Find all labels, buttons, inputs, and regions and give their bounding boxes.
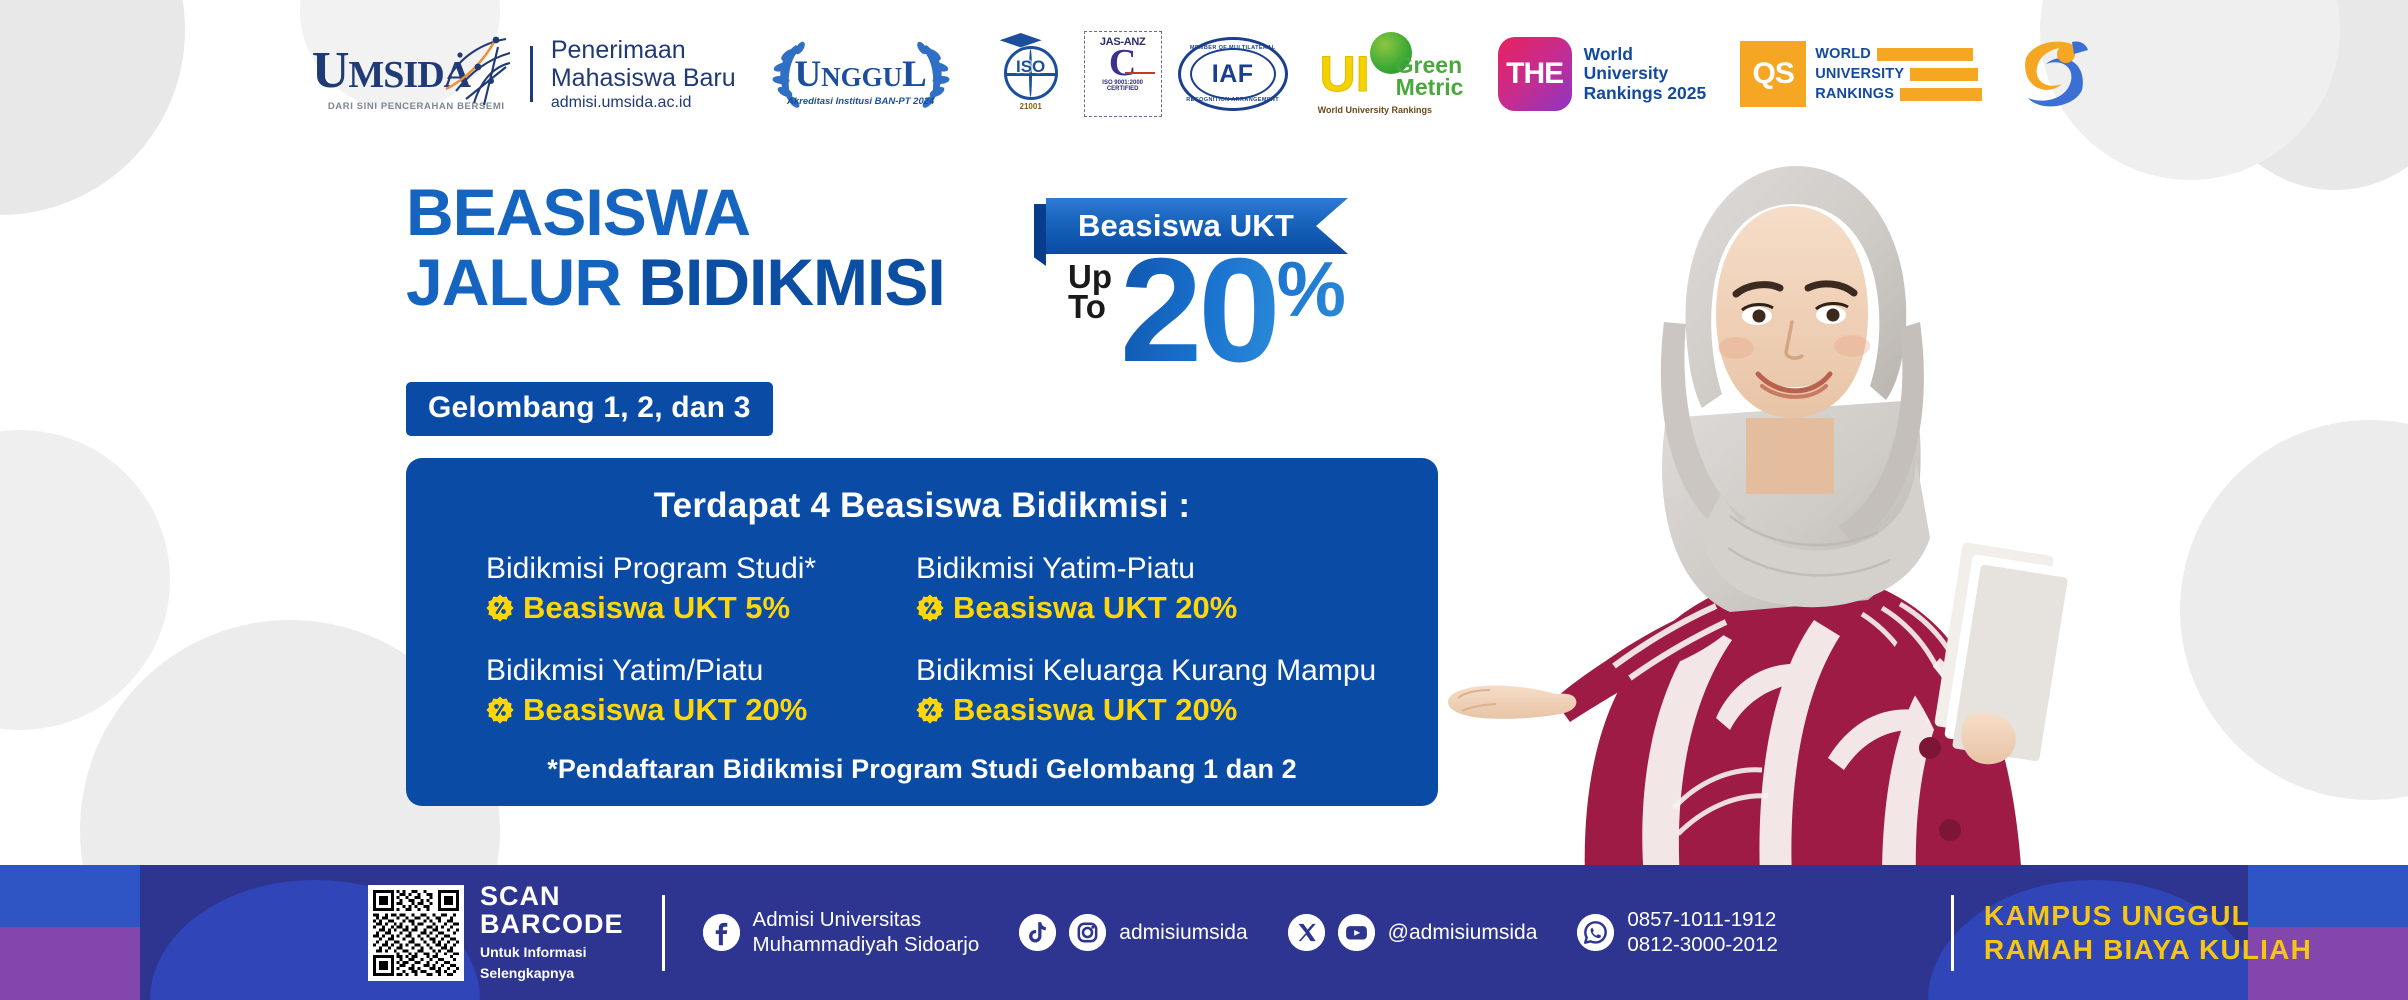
umsida-logo: UMSIDA DARI SINI PENCERAHAN BERSEMI — [312, 24, 736, 124]
qs-line-1: WORLD — [1815, 46, 1871, 62]
whatsapp-glyph — [1577, 914, 1614, 951]
footer-content: SCAN BARCODE Untuk Informasi Selengkapny… — [0, 865, 2408, 1000]
the-badge-text: THE — [1506, 57, 1563, 91]
iso-certification-logo: ISO 21001 — [992, 31, 1070, 117]
iaf-logo: MEMBER OF MULTILATERAL IAF RECOGNITION A… — [1178, 37, 1288, 111]
qs-row-1: WORLD — [1815, 46, 1982, 62]
footer-bar: SCAN BARCODE Untuk Informasi Selengkapny… — [0, 865, 2408, 1000]
info-card-footnote: *Pendaftaran Bidikmisi Program Studi Gel… — [436, 754, 1408, 785]
scholarship-amount: Beasiswa UKT 5% — [523, 590, 790, 626]
iaf-bottom-text: RECOGNITION ARRANGEMENT — [1181, 97, 1285, 103]
youtube-glyph — [1338, 914, 1375, 951]
ui-greenmetric-logo: UI Green Metric World University Ranking… — [1318, 32, 1464, 116]
percent-badge-icon — [916, 594, 944, 622]
qs-bar-3 — [1900, 88, 1982, 101]
tiktok-instagram-handle: admisiumsida — [1119, 920, 1247, 945]
background-circle-decoration — [2180, 420, 2408, 800]
scan-sub-2: Selengkapnya — [480, 965, 624, 982]
tagline-divider — [1951, 895, 1954, 971]
iaf-top-text: MEMBER OF MULTILATERAL — [1181, 45, 1285, 51]
page-title: BEASISWA JALUR BIDIKMISI — [406, 178, 945, 318]
facebook-label: Admisi Universitas Muhammadiyah Sidoarjo — [753, 908, 980, 957]
facebook-glyph — [703, 914, 740, 951]
scholarship-amount: Beasiswa UKT 20% — [953, 692, 1237, 728]
facebook-line-1: Admisi Universitas — [753, 908, 980, 933]
iso-number: 21001 — [1020, 102, 1042, 111]
headline-line-1: BEASISWA — [406, 178, 945, 248]
scan-line-1: SCAN — [480, 883, 624, 911]
list-item: Bidikmisi Yatim/Piatu Beasiswa UKT 20% — [486, 654, 916, 728]
scholarship-amount-row: Beasiswa UKT 20% — [916, 590, 1408, 626]
x-glyph — [1288, 914, 1325, 951]
scholarship-name: Bidikmisi Keluarga Kurang Mampu — [916, 654, 1408, 689]
admission-website: admisi.umsida.ac.id — [551, 94, 736, 112]
scan-sub-1: Untuk Informasi — [480, 944, 624, 961]
unggul-subtitle: Akreditasi Institusi BAN-PT 2024 — [766, 96, 956, 107]
up-to-label: Up To — [1068, 262, 1112, 323]
instagram-glyph — [1069, 914, 1106, 951]
iaf-inner-ring: IAF — [1190, 48, 1276, 100]
scholarship-name: Bidikmisi Yatim-Piatu — [916, 552, 1408, 587]
the-rankings-logo: THE World University Rankings 2025 — [1498, 24, 1707, 124]
youtube-icon[interactable] — [1338, 914, 1375, 951]
list-item: Bidikmisi Yatim-Piatu Beasiswa UKT 20% — [916, 552, 1408, 626]
jas-anz-letter: C — [1109, 47, 1136, 80]
jas-anz-logo: JAS-ANZ C ISO 9001:2000 CERTIFIED — [1084, 31, 1162, 117]
qs-line-2: UNIVERSITY — [1815, 66, 1904, 82]
tagline-line-1: KAMPUS UNGGUL — [1984, 899, 2312, 932]
whatsapp-number-2: 0812-3000-2012 — [1627, 933, 1777, 958]
swirl-person-icon — [2012, 32, 2096, 116]
percent-badge-icon — [486, 696, 514, 724]
campus-tagline: KAMPUS UNGGUL RAMAH BIAYA KULIAH — [1951, 895, 2408, 971]
percent-symbol: % — [1277, 254, 1346, 324]
jas-anz-certified: CERTIFIED — [1107, 86, 1139, 92]
scholarship-amount-row: Beasiswa UKT 5% — [486, 590, 916, 626]
x-twitter-icon[interactable] — [1288, 914, 1325, 951]
info-card-title: Terdapat 4 Beasiswa Bidikmisi : — [436, 486, 1408, 526]
student-photo — [1430, 118, 2070, 880]
whatsapp-icon[interactable] — [1577, 914, 1614, 951]
scholarship-list: Bidikmisi Program Studi* Beasiswa UKT 5%… — [436, 552, 1408, 728]
ui-greenmetric-ui: UI — [1320, 52, 1370, 97]
percent-badge-icon — [916, 696, 944, 724]
ribbon-fold-tail — [1034, 204, 1046, 266]
scan-line-2: BARCODE — [480, 911, 624, 939]
qs-badge-text: QS — [1753, 57, 1794, 91]
percent-value: 20 — [1120, 250, 1277, 371]
wave-badge: Gelombang 1, 2, dan 3 — [406, 382, 773, 436]
jas-anz-accent-bar — [1125, 72, 1155, 74]
qs-rankings-text: WORLD UNIVERSITY RANKINGS — [1815, 46, 1982, 102]
ui-greenmetric-subtitle: World University Rankings — [1318, 105, 1432, 115]
qs-line-3: RANKINGS — [1815, 86, 1894, 102]
tiktok-glyph — [1019, 914, 1056, 951]
list-item: Bidikmisi Program Studi* Beasiswa UKT 5% — [486, 552, 916, 626]
headline-line-2-prefix: JALUR — [406, 245, 638, 319]
scholarship-banner: UMSIDA DARI SINI PENCERAHAN BERSEMI — [0, 0, 2408, 1000]
qr-code[interactable] — [368, 885, 464, 981]
unggul-accreditation-logo: UNGGUL Akreditasi Institusi BAN-PT 2024 — [766, 35, 956, 113]
umsida-network-icon — [444, 33, 516, 107]
qs-bar-1 — [1877, 48, 1973, 61]
whatsapp-contact[interactable]: 0857-1011-1912 0812-3000-2012 — [1577, 908, 1777, 957]
iaf-letters: IAF — [1212, 60, 1254, 89]
headline-line-2-suffix: BIDIKMISI — [638, 245, 944, 319]
instagram-icon[interactable] — [1069, 914, 1106, 951]
qs-row-3: RANKINGS — [1815, 86, 1982, 102]
tagline-text: KAMPUS UNGGUL RAMAH BIAYA KULIAH — [1984, 899, 2312, 965]
headline-line-2: JALUR BIDIKMISI — [406, 248, 945, 318]
the-rankings-text: World University Rankings 2025 — [1584, 45, 1707, 104]
qs-bar-2 — [1910, 68, 1978, 81]
iso-label: ISO — [992, 57, 1070, 77]
scholarship-info-card: Terdapat 4 Beasiswa Bidikmisi : Bidikmis… — [406, 458, 1438, 806]
the-line-1: World — [1584, 45, 1707, 65]
to-text: To — [1068, 292, 1112, 322]
facebook-contact[interactable]: Admisi Universitas Muhammadiyah Sidoarjo — [703, 908, 980, 957]
umsida-wordmark: UMSIDA DARI SINI PENCERAHAN BERSEMI — [312, 31, 512, 117]
the-line-2: University — [1584, 64, 1707, 84]
logo-divider — [530, 46, 533, 102]
percent-badge-icon — [486, 594, 514, 622]
tiktok-instagram-contact[interactable]: admisiumsida — [1019, 914, 1247, 951]
scholarship-name: Bidikmisi Program Studi* — [486, 552, 916, 587]
logo-strip: UMSIDA DARI SINI PENCERAHAN BERSEMI — [0, 18, 2408, 130]
qs-row-2: UNIVERSITY — [1815, 66, 1982, 82]
facebook-icon[interactable] — [703, 914, 740, 951]
admission-line-2: Mahasiswa Baru — [551, 64, 736, 92]
footer-divider — [662, 895, 665, 971]
admission-text: Penerimaan Mahasiswa Baru admisi.umsida.… — [551, 36, 736, 113]
scholarship-amount-row: Beasiswa UKT 20% — [486, 692, 916, 728]
facebook-line-2: Muhammadiyah Sidoarjo — [753, 933, 980, 958]
list-item: Bidikmisi Keluarga Kurang Mampu Beasiswa… — [916, 654, 1408, 728]
whatsapp-number-1: 0857-1011-1912 — [1627, 908, 1777, 933]
x-youtube-handle: @admisiumsida — [1388, 920, 1538, 945]
admission-line-1: Penerimaan — [551, 36, 736, 64]
ui-greenmetric-metric: Metric — [1396, 76, 1464, 99]
qs-badge-icon: QS — [1740, 41, 1806, 107]
scan-barcode-group[interactable]: SCAN BARCODE Untuk Informasi Selengkapny… — [368, 883, 624, 981]
the-line-3: Rankings 2025 — [1584, 84, 1707, 104]
scholarship-name: Bidikmisi Yatim/Piatu — [486, 654, 916, 689]
the-badge-icon: THE — [1498, 37, 1572, 111]
muhammadiyah-swirl-logo — [2012, 32, 2096, 116]
tiktok-icon[interactable] — [1019, 914, 1056, 951]
whatsapp-numbers: 0857-1011-1912 0812-3000-2012 — [1627, 908, 1777, 957]
scan-barcode-text: SCAN BARCODE Untuk Informasi Selengkapny… — [480, 883, 624, 981]
tagline-line-2: RAMAH BIAYA KULIAH — [1984, 933, 2312, 966]
scholarship-amount: Beasiswa UKT 20% — [523, 692, 807, 728]
qr-code-image — [373, 890, 459, 976]
x-youtube-contact[interactable]: @admisiumsida — [1288, 914, 1538, 951]
discount-percentage: 20 % — [1120, 250, 1346, 371]
scholarship-amount-row: Beasiswa UKT 20% — [916, 692, 1408, 728]
qs-rankings-logo: QS WORLD UNIVERSITY RANKINGS — [1740, 24, 1982, 124]
scholarship-amount: Beasiswa UKT 20% — [953, 590, 1237, 626]
